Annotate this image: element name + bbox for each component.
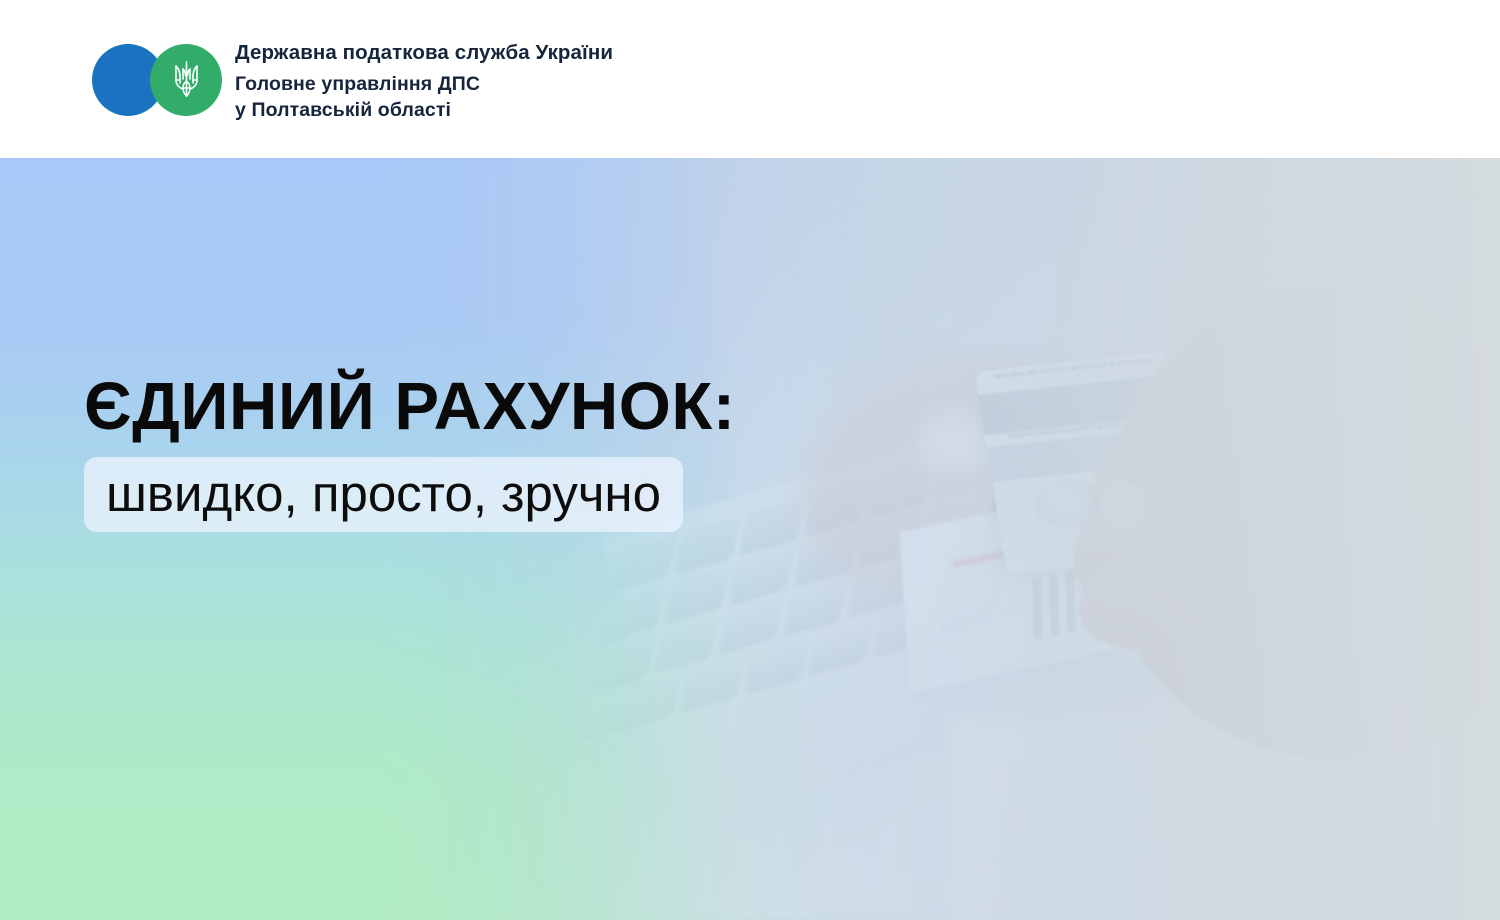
header-bar: Державна податкова служба України Головн… [0,0,1500,158]
org-title-line-2: Головне управління ДПС [235,71,613,97]
promo-poster: Державна податкова служба України Головн… [0,0,1500,920]
gradient-right-wash [0,158,1500,920]
hero-subline: швидко, просто, зручно [106,468,661,519]
hero-canvas: INFOLINIA: 801 321 123 | +48 22 134 00 0… [0,158,1500,920]
logo-marks [92,38,225,122]
organization-logo: Державна податкова служба України Головн… [92,38,613,123]
org-title-line-1: Державна податкова служба України [235,39,613,67]
org-title-line-3: у Полтавській області [235,97,613,123]
hero-subline-pill: швидко, просто, зручно [84,457,683,532]
ukraine-trident-icon [171,59,202,101]
organization-name-block: Державна податкова служба України Головн… [235,38,613,123]
hero-headline: ЄДИНИЙ РАХУНОК: [84,373,736,440]
hero-text-block: ЄДИНИЙ РАХУНОК: швидко, просто, зручно [84,373,736,532]
